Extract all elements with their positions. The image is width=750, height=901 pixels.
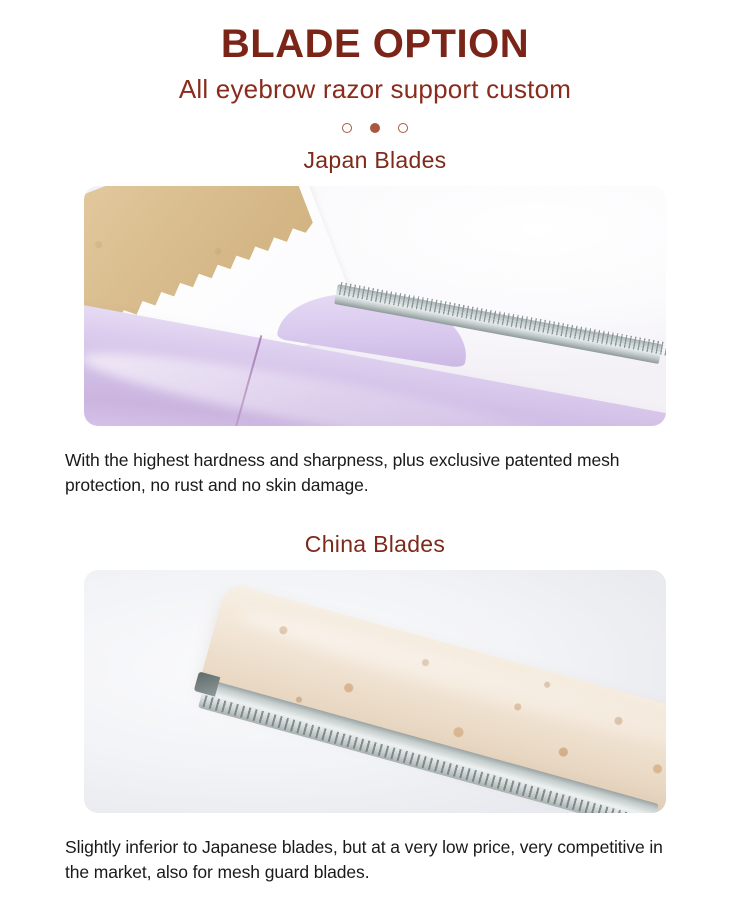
- section-heading-china: China Blades: [0, 531, 750, 558]
- page-subtitle: All eyebrow razor support custom: [0, 75, 750, 105]
- description-japan-blades: With the highest hardness and sharpness,…: [65, 448, 685, 499]
- carousel-dots: [0, 121, 750, 135]
- product-photo-japan-blades: [84, 186, 666, 426]
- carousel-dot-3[interactable]: [398, 123, 408, 133]
- section-heading-japan: Japan Blades: [0, 147, 750, 174]
- page-header: BLADE OPTION All eyebrow razor support c…: [0, 0, 750, 135]
- product-detail-page: BLADE OPTION All eyebrow razor support c…: [0, 0, 750, 901]
- product-photo-china-blades: [84, 570, 666, 813]
- page-title: BLADE OPTION: [0, 22, 750, 66]
- section-japan-blades: Japan Blades With the highest hardness a…: [0, 147, 750, 499]
- carousel-dot-2[interactable]: [370, 123, 380, 133]
- section-china-blades: China Blades Slightly inferior to Japane…: [0, 531, 750, 886]
- description-china-blades: Slightly inferior to Japanese blades, bu…: [65, 835, 685, 886]
- carousel-dot-1[interactable]: [342, 123, 352, 133]
